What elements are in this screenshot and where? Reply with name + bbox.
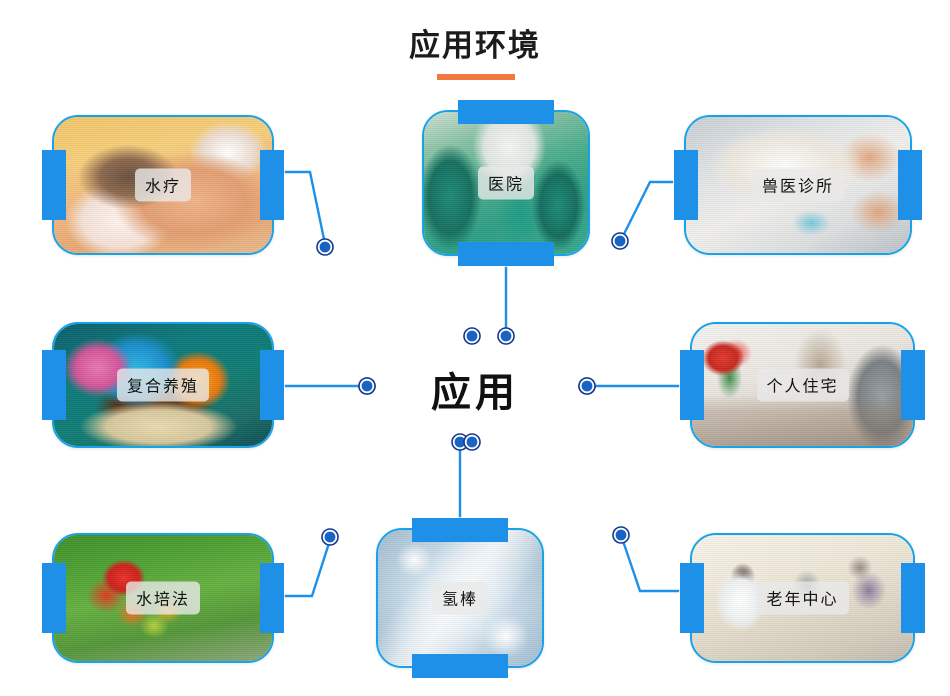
card-label-hydro: 水培法 (126, 582, 200, 615)
wire-spa-node (317, 239, 333, 255)
hub-node-right (579, 378, 595, 394)
hub-node-left (359, 378, 375, 394)
wire-hospital-node (498, 328, 514, 344)
connector-tab-right-hydro (260, 563, 284, 633)
wire-hydro-node (322, 529, 338, 545)
wire-vet (622, 182, 672, 238)
connector-tab-left-senior (680, 563, 704, 633)
diagram-canvas: 应用环境 水疗医院兽医诊所复合养殖个人住宅水培法氢棒老年中心 应用 (0, 0, 950, 696)
connector-tab-bottom-hospital (458, 242, 554, 266)
wire-vet-node (612, 233, 628, 249)
connector-tab-right-aqua (260, 350, 284, 420)
card-label-vet: 兽医诊所 (752, 169, 844, 202)
connector-tab-right-senior (901, 563, 925, 633)
card-label-rod: 氢棒 (432, 582, 488, 615)
wire-senior-node (613, 527, 629, 543)
connector-tab-right-vet (898, 150, 922, 220)
card-label-senior: 老年中心 (756, 582, 848, 615)
wire-spa (286, 172, 325, 244)
connector-tab-right-home (901, 350, 925, 420)
connector-tab-top-rod (412, 518, 508, 542)
card-label-aqua: 复合养殖 (117, 369, 209, 402)
connector-tab-right-spa (260, 150, 284, 220)
connector-tab-left-hydro (42, 563, 66, 633)
hub-node-top (464, 328, 480, 344)
card-label-home: 个人住宅 (756, 369, 848, 402)
connector-tab-bottom-rod (412, 654, 508, 678)
connector-tab-top-hospital (458, 100, 554, 124)
connector-tab-left-spa (42, 150, 66, 220)
card-label-hospital: 医院 (478, 167, 534, 200)
connector-tab-left-vet (674, 150, 698, 220)
connector-tab-left-home (680, 350, 704, 420)
connector-tab-left-aqua (42, 350, 66, 420)
wire-senior (622, 538, 678, 591)
wire-hydro (286, 540, 330, 596)
hub-node-bottom (464, 434, 480, 450)
card-label-spa: 水疗 (135, 169, 191, 202)
